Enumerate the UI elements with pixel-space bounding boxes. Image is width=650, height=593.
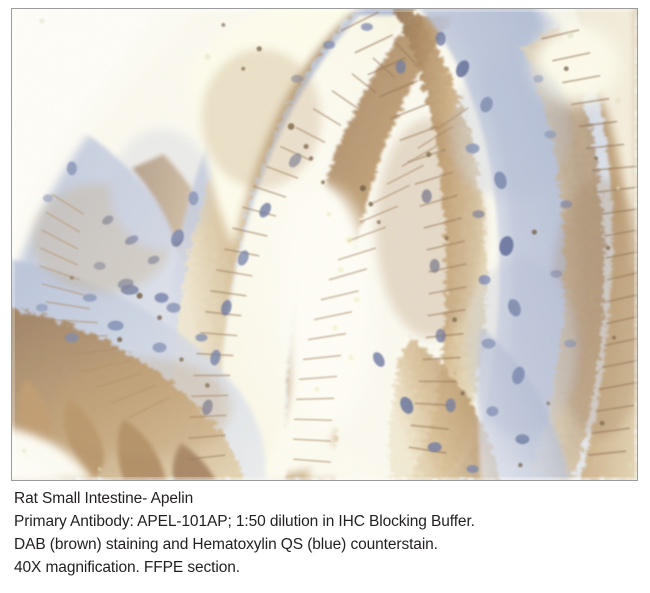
caption-line-magnification: 40X magnification. FFPE section. — [14, 556, 640, 579]
caption-line-title: Rat Small Intestine- Apelin — [14, 487, 640, 510]
film-grain — [12, 9, 637, 480]
figure-page: Rat Small Intestine- Apelin Primary Anti… — [0, 0, 650, 593]
figure-caption: Rat Small Intestine- Apelin Primary Anti… — [14, 487, 640, 579]
tissue-section — [12, 9, 637, 480]
micrograph-canvas — [12, 9, 637, 480]
micrograph-image — [11, 8, 638, 481]
caption-line-primary-antibody: Primary Antibody: APEL-101AP; 1:50 dilut… — [14, 510, 640, 533]
caption-line-staining: DAB (brown) staining and Hematoxylin QS … — [14, 533, 640, 556]
